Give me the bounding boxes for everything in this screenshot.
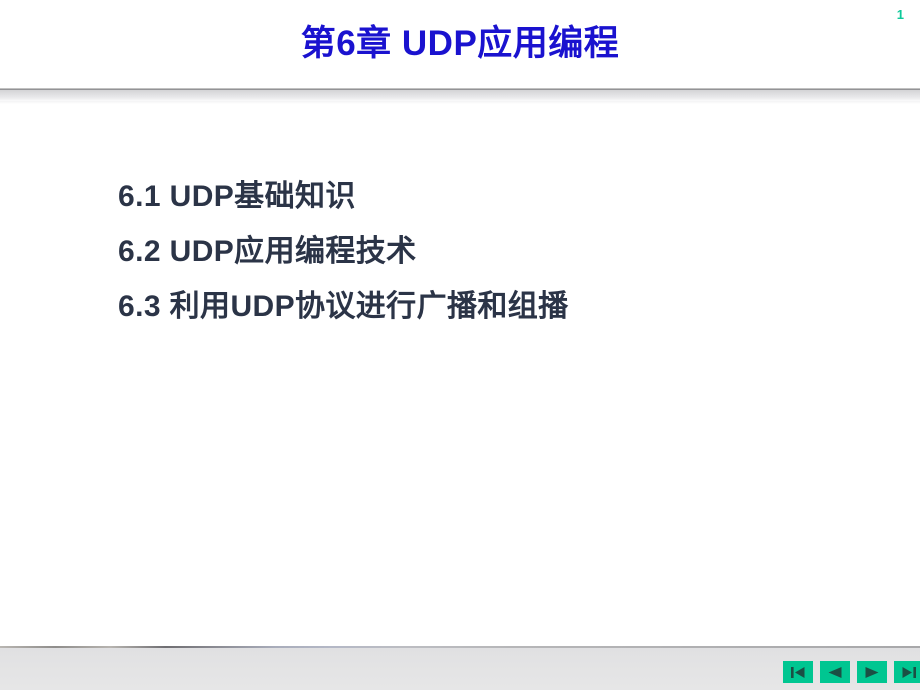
outline-item-1: 6.1 UDP基础知识	[118, 182, 858, 212]
footer-band	[0, 648, 920, 690]
presentation-slide: 1 第6章 UDP应用编程 6.1 UDP基础知识 6.2 UDP应用编程技术 …	[0, 0, 920, 690]
skip-forward-icon	[901, 666, 917, 679]
last-slide-button[interactable]: 最后一页	[894, 661, 920, 683]
next-slide-button[interactable]: 下一页	[857, 661, 887, 683]
title-divider-band	[0, 90, 920, 101]
page-title: 第6章 UDP应用编程	[0, 24, 920, 64]
skip-back-icon	[790, 666, 806, 679]
first-slide-button[interactable]: 第一页	[783, 661, 813, 683]
play-forward-icon	[864, 666, 880, 679]
slide-title-zone: 第6章 UDP应用编程	[0, 0, 920, 86]
outline-item-2: 6.2 UDP应用编程技术	[118, 237, 858, 267]
title-divider-shadow	[0, 101, 920, 104]
previous-slide-button[interactable]: 上一页	[820, 661, 850, 683]
slide-body: 6.1 UDP基础知识 6.2 UDP应用编程技术 6.3 利用UDP协议进行广…	[118, 182, 858, 347]
play-back-icon	[827, 666, 843, 679]
outline-item-3: 6.3 利用UDP协议进行广播和组播	[118, 292, 858, 322]
slide-navigation: 第一页 上一页 下一页 最后一页	[783, 661, 920, 683]
